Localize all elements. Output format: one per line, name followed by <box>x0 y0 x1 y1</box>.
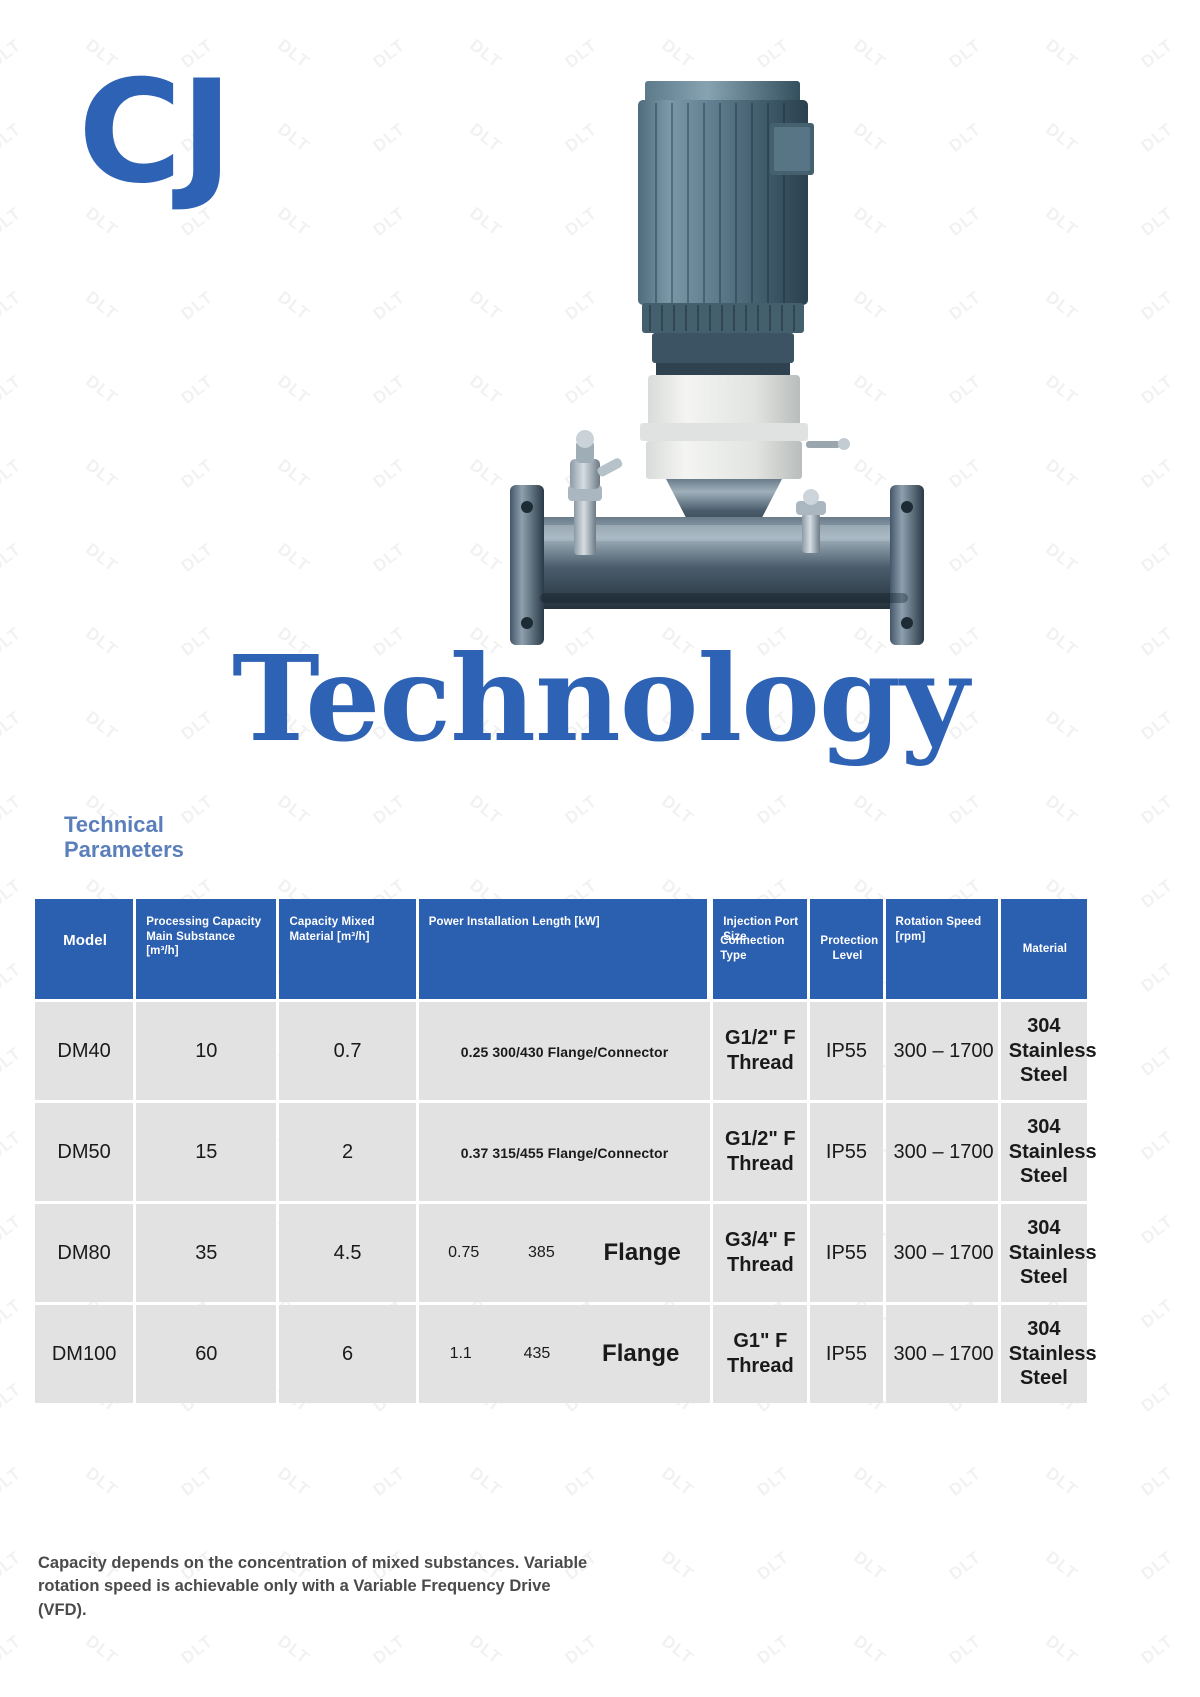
cell-power-length-connection: 0.75385Flange <box>419 1204 711 1302</box>
brand-logo: CJ <box>78 62 231 204</box>
cell-mixed-capacity: 4.5 <box>279 1204 415 1302</box>
cell-injection-port: G1" F Thread <box>713 1305 807 1403</box>
table-row: DM40100.70.25 300/430 Flange/ConnectorG1… <box>35 1002 1087 1100</box>
cell-injection-port: G3/4" F Thread <box>713 1204 807 1302</box>
cell-protection-level: IP55 <box>810 1002 882 1100</box>
cell-mixed-capacity: 6 <box>279 1305 415 1403</box>
header-material: Material <box>1001 899 1087 999</box>
cell-processing-capacity: 60 <box>136 1305 276 1403</box>
header-rotation: Rotation Speed [rpm] <box>886 899 998 999</box>
spec-table-container: Model Processing Capacity Main Substance… <box>32 896 1090 1406</box>
cell-rotation-speed: 300 – 1700 <box>886 1103 998 1201</box>
cell-model: DM50 <box>35 1103 133 1201</box>
cell-power-length-connection: 0.25 300/430 Flange/Connector <box>419 1002 711 1100</box>
header-processing: Processing Capacity Main Substance [m³/h… <box>136 899 276 999</box>
cell-processing-capacity: 15 <box>136 1103 276 1201</box>
section-title: Technical Parameters <box>64 812 184 863</box>
cell-length: 385 <box>528 1244 555 1262</box>
cell-material: 304 Stainless Steel <box>1001 1204 1087 1302</box>
cell-model: DM100 <box>35 1305 133 1403</box>
cell-power-length-connection: 0.37 315/455 Flange/Connector <box>419 1103 711 1201</box>
cell-power-length-connection: 1.1435Flange <box>419 1305 711 1403</box>
table-body: DM40100.70.25 300/430 Flange/ConnectorG1… <box>35 1002 1087 1403</box>
header-protection: Protection Level <box>810 899 882 999</box>
table-row: DM501520.37 315/455 Flange/ConnectorG1/2… <box>35 1103 1087 1201</box>
cell-length: 435 <box>524 1345 551 1363</box>
cell-protection-level: IP55 <box>810 1103 882 1201</box>
cell-material: 304 Stainless Steel <box>1001 1305 1087 1403</box>
cell-power: 1.1 <box>450 1345 472 1363</box>
header-power-length: Power Installation Length [kW] <box>419 899 708 999</box>
spec-table: Model Processing Capacity Main Substance… <box>32 896 1090 1406</box>
cell-processing-capacity: 10 <box>136 1002 276 1100</box>
header-model: Model <box>35 899 133 999</box>
header-injection: Injection Port Size <box>713 899 807 999</box>
header-mixed: Capacity Mixed Material [m³/h] <box>279 899 415 999</box>
cell-model: DM80 <box>35 1204 133 1302</box>
hero-section: CJ <box>0 0 1200 810</box>
table-row: DM80354.50.75385FlangeG3/4" F ThreadIP55… <box>35 1204 1087 1302</box>
product-photo <box>470 45 940 665</box>
cell-rotation-speed: 300 – 1700 <box>886 1204 998 1302</box>
cell-connection-type: Flange <box>602 1340 679 1368</box>
cell-protection-level: IP55 <box>810 1305 882 1403</box>
cell-injection-port: G1/2" F Thread <box>713 1002 807 1100</box>
cell-material: 304 Stainless Steel <box>1001 1103 1087 1201</box>
footnote-text: Capacity depends on the concentration of… <box>38 1552 598 1622</box>
cell-power: 0.75 <box>448 1244 479 1262</box>
cell-material: 304 Stainless Steel <box>1001 1002 1087 1100</box>
cell-mixed-capacity: 0.7 <box>279 1002 415 1100</box>
power-length-connection-combined: 0.37 315/455 Flange/Connector <box>461 1145 669 1161</box>
cell-processing-capacity: 35 <box>136 1204 276 1302</box>
headline-technology: Technology <box>0 640 1200 758</box>
table-row: DM1006061.1435FlangeG1" F ThreadIP55300 … <box>35 1305 1087 1403</box>
cell-injection-port: G1/2" F Thread <box>713 1103 807 1201</box>
cell-connection-type: Flange <box>604 1239 681 1267</box>
cell-protection-level: IP55 <box>810 1204 882 1302</box>
datasheet-page: CJ <box>0 0 1200 1697</box>
cell-model: DM40 <box>35 1002 133 1100</box>
cell-rotation-speed: 300 – 1700 <box>886 1002 998 1100</box>
cell-rotation-speed: 300 – 1700 <box>886 1305 998 1403</box>
power-length-connection-combined: 0.25 300/430 Flange/Connector <box>461 1044 669 1060</box>
table-header-row: Model Processing Capacity Main Substance… <box>35 899 1087 999</box>
cell-mixed-capacity: 2 <box>279 1103 415 1201</box>
